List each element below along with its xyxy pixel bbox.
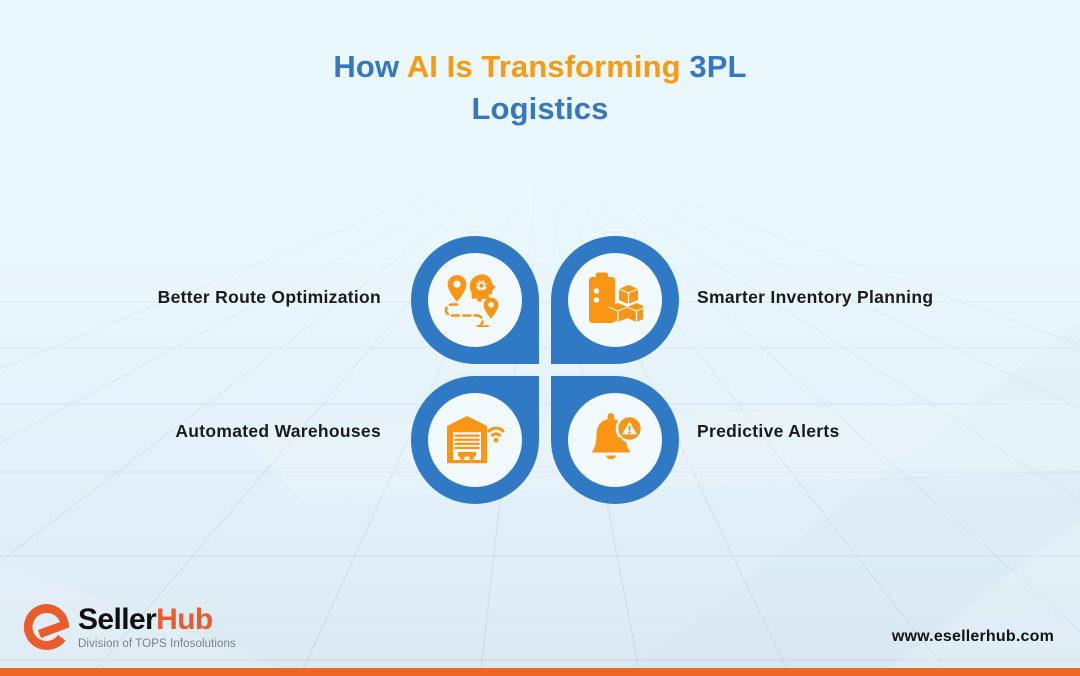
logo-wordmark: SellerHub	[78, 604, 236, 636]
feature-label-smarter-inventory-planning: Smarter Inventory Planning	[697, 282, 997, 312]
clipboard-boxes-inventory-icon	[551, 236, 679, 364]
title-line-1: How AI Is Transforming 3PL	[0, 46, 1080, 88]
logo-text-block: SellerHub Division of TOPS Infosolutions	[78, 604, 236, 651]
logo-word-hub: Hub	[156, 603, 213, 636]
route-map-pins-ai-icon	[411, 236, 539, 364]
brand-logo[interactable]: SellerHub Division of TOPS Infosolutions	[22, 602, 236, 652]
page-title: How AI Is Transforming 3PL Logistics	[0, 46, 1080, 130]
bottom-accent-bar	[0, 668, 1080, 676]
title-text-how: How	[333, 49, 406, 84]
infographic-canvas: How AI Is Transforming 3PL Logistics	[0, 0, 1080, 676]
website-url[interactable]: www.esellerhub.com	[892, 628, 1054, 646]
logo-tagline: Division of TOPS Infosolutions	[78, 637, 236, 651]
e-circle-logo-icon	[22, 602, 72, 652]
logo-word-seller: Seller	[78, 603, 156, 636]
feature-node-predictive-alerts[interactable]	[551, 376, 679, 504]
feature-label-predictive-alerts: Predictive Alerts	[697, 416, 997, 446]
warehouse-wifi-icon	[411, 376, 539, 504]
title-line-2: Logistics	[0, 88, 1080, 130]
feature-pinwheel-graphic	[411, 236, 679, 504]
feature-node-better-route-optimization[interactable]	[411, 236, 539, 364]
bell-warning-alert-icon	[551, 376, 679, 504]
title-highlight-ai: AI Is Transforming	[407, 49, 681, 84]
feature-label-better-route-optimization: Better Route Optimization	[121, 282, 381, 312]
feature-node-automated-warehouses[interactable]	[411, 376, 539, 504]
feature-node-smarter-inventory-planning[interactable]	[551, 236, 679, 364]
title-text-3pl: 3PL	[681, 49, 747, 84]
feature-label-automated-warehouses: Automated Warehouses	[121, 416, 381, 446]
